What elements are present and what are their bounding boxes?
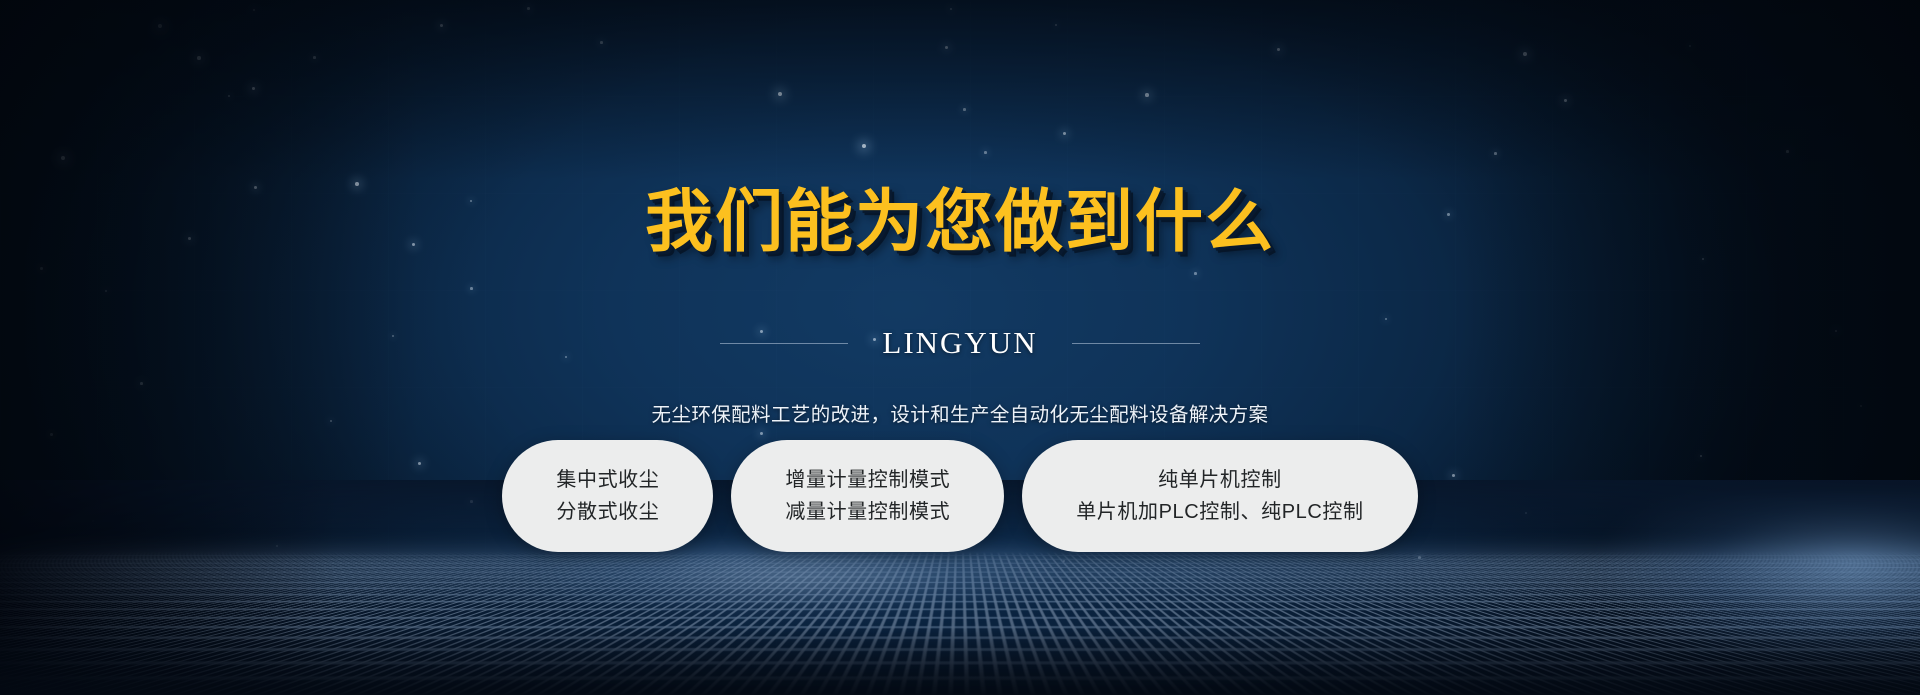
hero-banner: 我们能为您做到什么 LINGYUN 无尘环保配料工艺的改进，设计和生产全自动化无… [0, 0, 1920, 695]
brand-subtitle-row: LINGYUN [0, 325, 1920, 361]
pill-line: 增量计量控制模式 [785, 470, 950, 490]
feature-pill-control-system[interactable]: 纯单片机控制 单片机加PLC控制、纯PLC控制 [1022, 440, 1417, 552]
pill-line: 减量计量控制模式 [785, 502, 950, 522]
brand-name: LINGYUN [882, 325, 1037, 361]
pill-line: 集中式收尘 [556, 470, 659, 490]
divider-line-left [720, 343, 848, 344]
feature-pill-dust-collection[interactable]: 集中式收尘 分散式收尘 [502, 440, 713, 552]
feature-pill-list: 集中式收尘 分散式收尘 增量计量控制模式 减量计量控制模式 纯单片机控制 单片机… [0, 440, 1920, 552]
banner-content: 我们能为您做到什么 LINGYUN 无尘环保配料工艺的改进，设计和生产全自动化无… [0, 0, 1920, 695]
feature-pill-metering-mode[interactable]: 增量计量控制模式 减量计量控制模式 [731, 440, 1004, 552]
pill-line: 单片机加PLC控制、纯PLC控制 [1076, 502, 1363, 522]
pill-line: 纯单片机控制 [1158, 470, 1282, 490]
page-description: 无尘环保配料工艺的改进，设计和生产全自动化无尘配料设备解决方案 [0, 398, 1920, 427]
pill-line: 分散式收尘 [556, 502, 659, 522]
divider-line-right [1072, 343, 1200, 344]
page-title: 我们能为您做到什么 [0, 186, 1920, 259]
